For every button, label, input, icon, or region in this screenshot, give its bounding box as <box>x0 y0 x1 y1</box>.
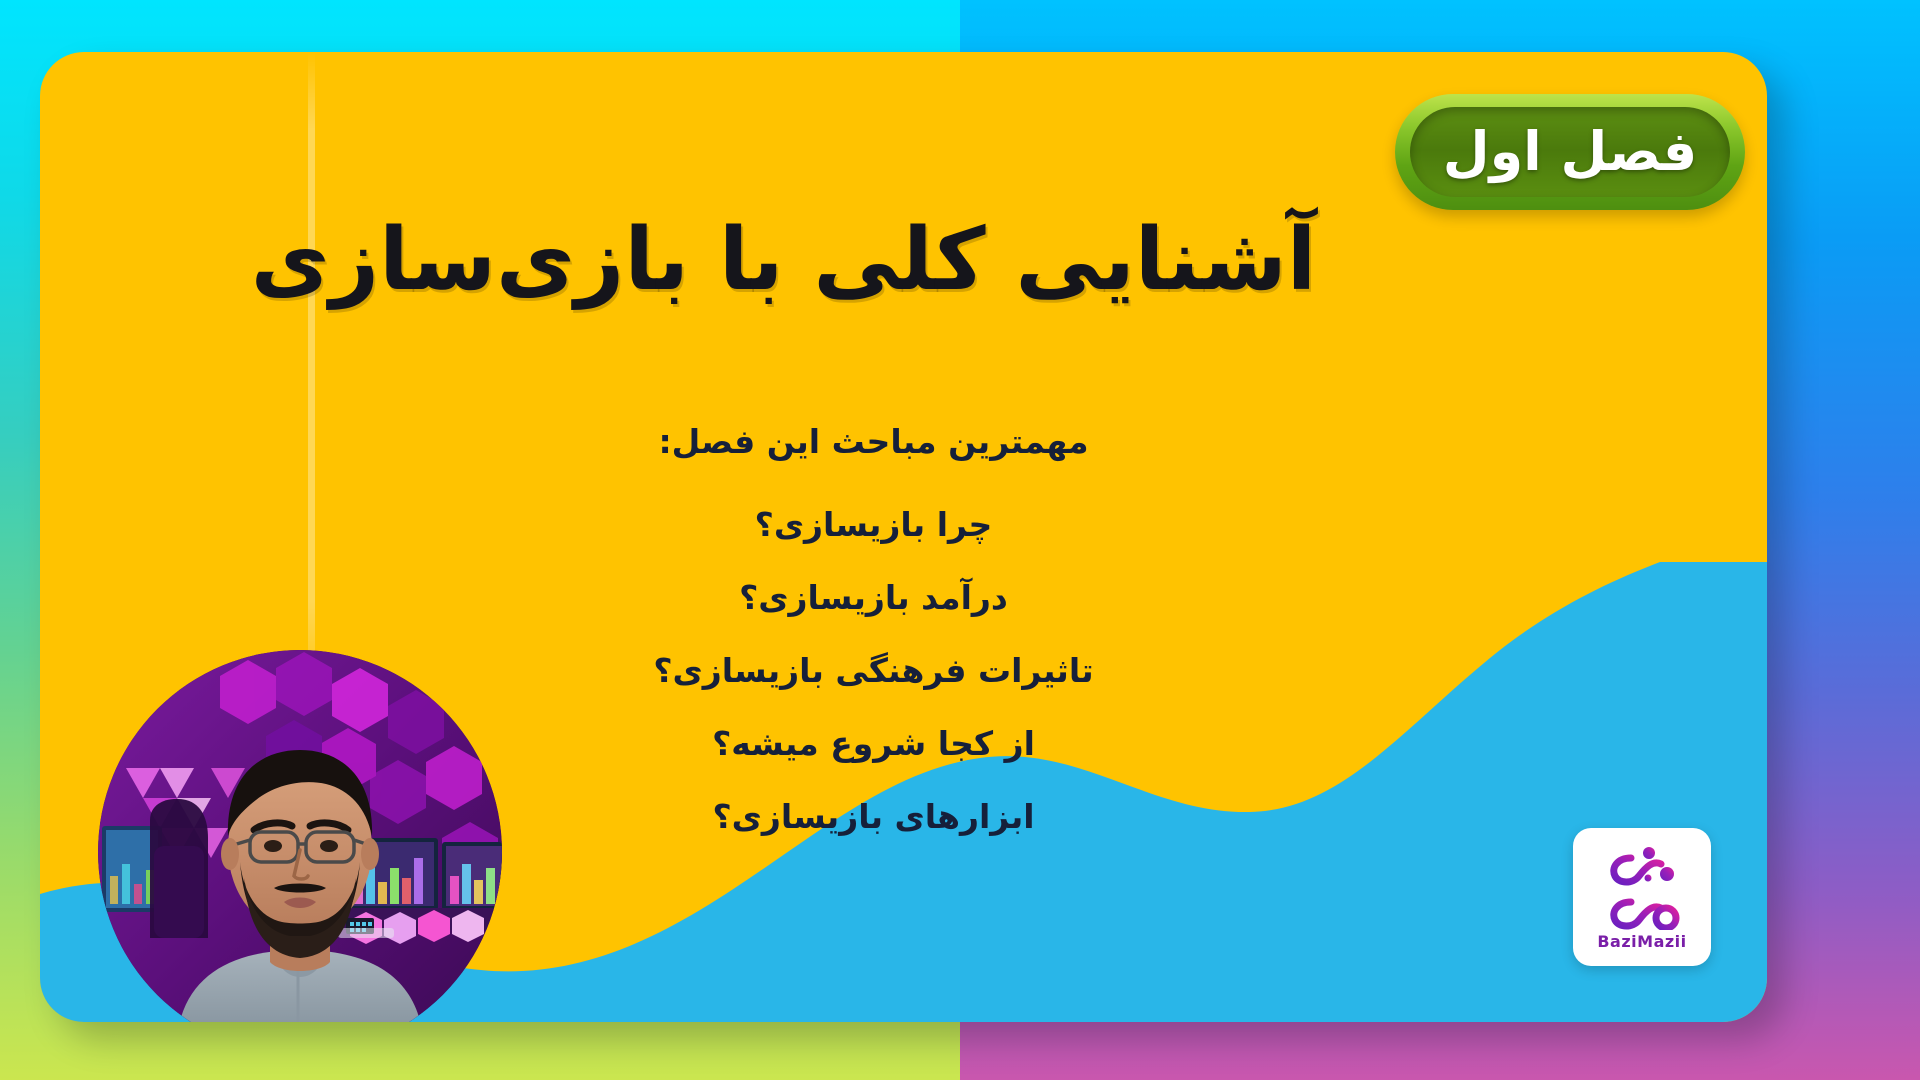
brand-logo-wordmark: BaziMazii <box>1597 932 1686 951</box>
chapter-badge-label: فصل اول <box>1443 125 1698 179</box>
list-item: درآمد بازیسازی؟ <box>40 578 1707 617</box>
list-item: چرا بازیسازی؟ <box>40 505 1707 544</box>
page-title: آشنایی کلی با بازی‌سازی <box>40 210 1767 310</box>
brand-logo: BaziMazii <box>1573 828 1711 966</box>
bazimazii-mark-icon <box>1601 844 1683 930</box>
chapter-badge-inner: فصل اول <box>1410 107 1730 197</box>
slide-card: فصل اول آشنایی کلی با بازی‌سازی مهمترین … <box>40 52 1767 1022</box>
topics-subheading: مهمترین مباحث این فصل: <box>40 422 1707 461</box>
chapter-badge[interactable]: فصل اول <box>1395 94 1745 210</box>
slide-stage: فصل اول آشنایی کلی با بازی‌سازی مهمترین … <box>0 0 1920 1080</box>
